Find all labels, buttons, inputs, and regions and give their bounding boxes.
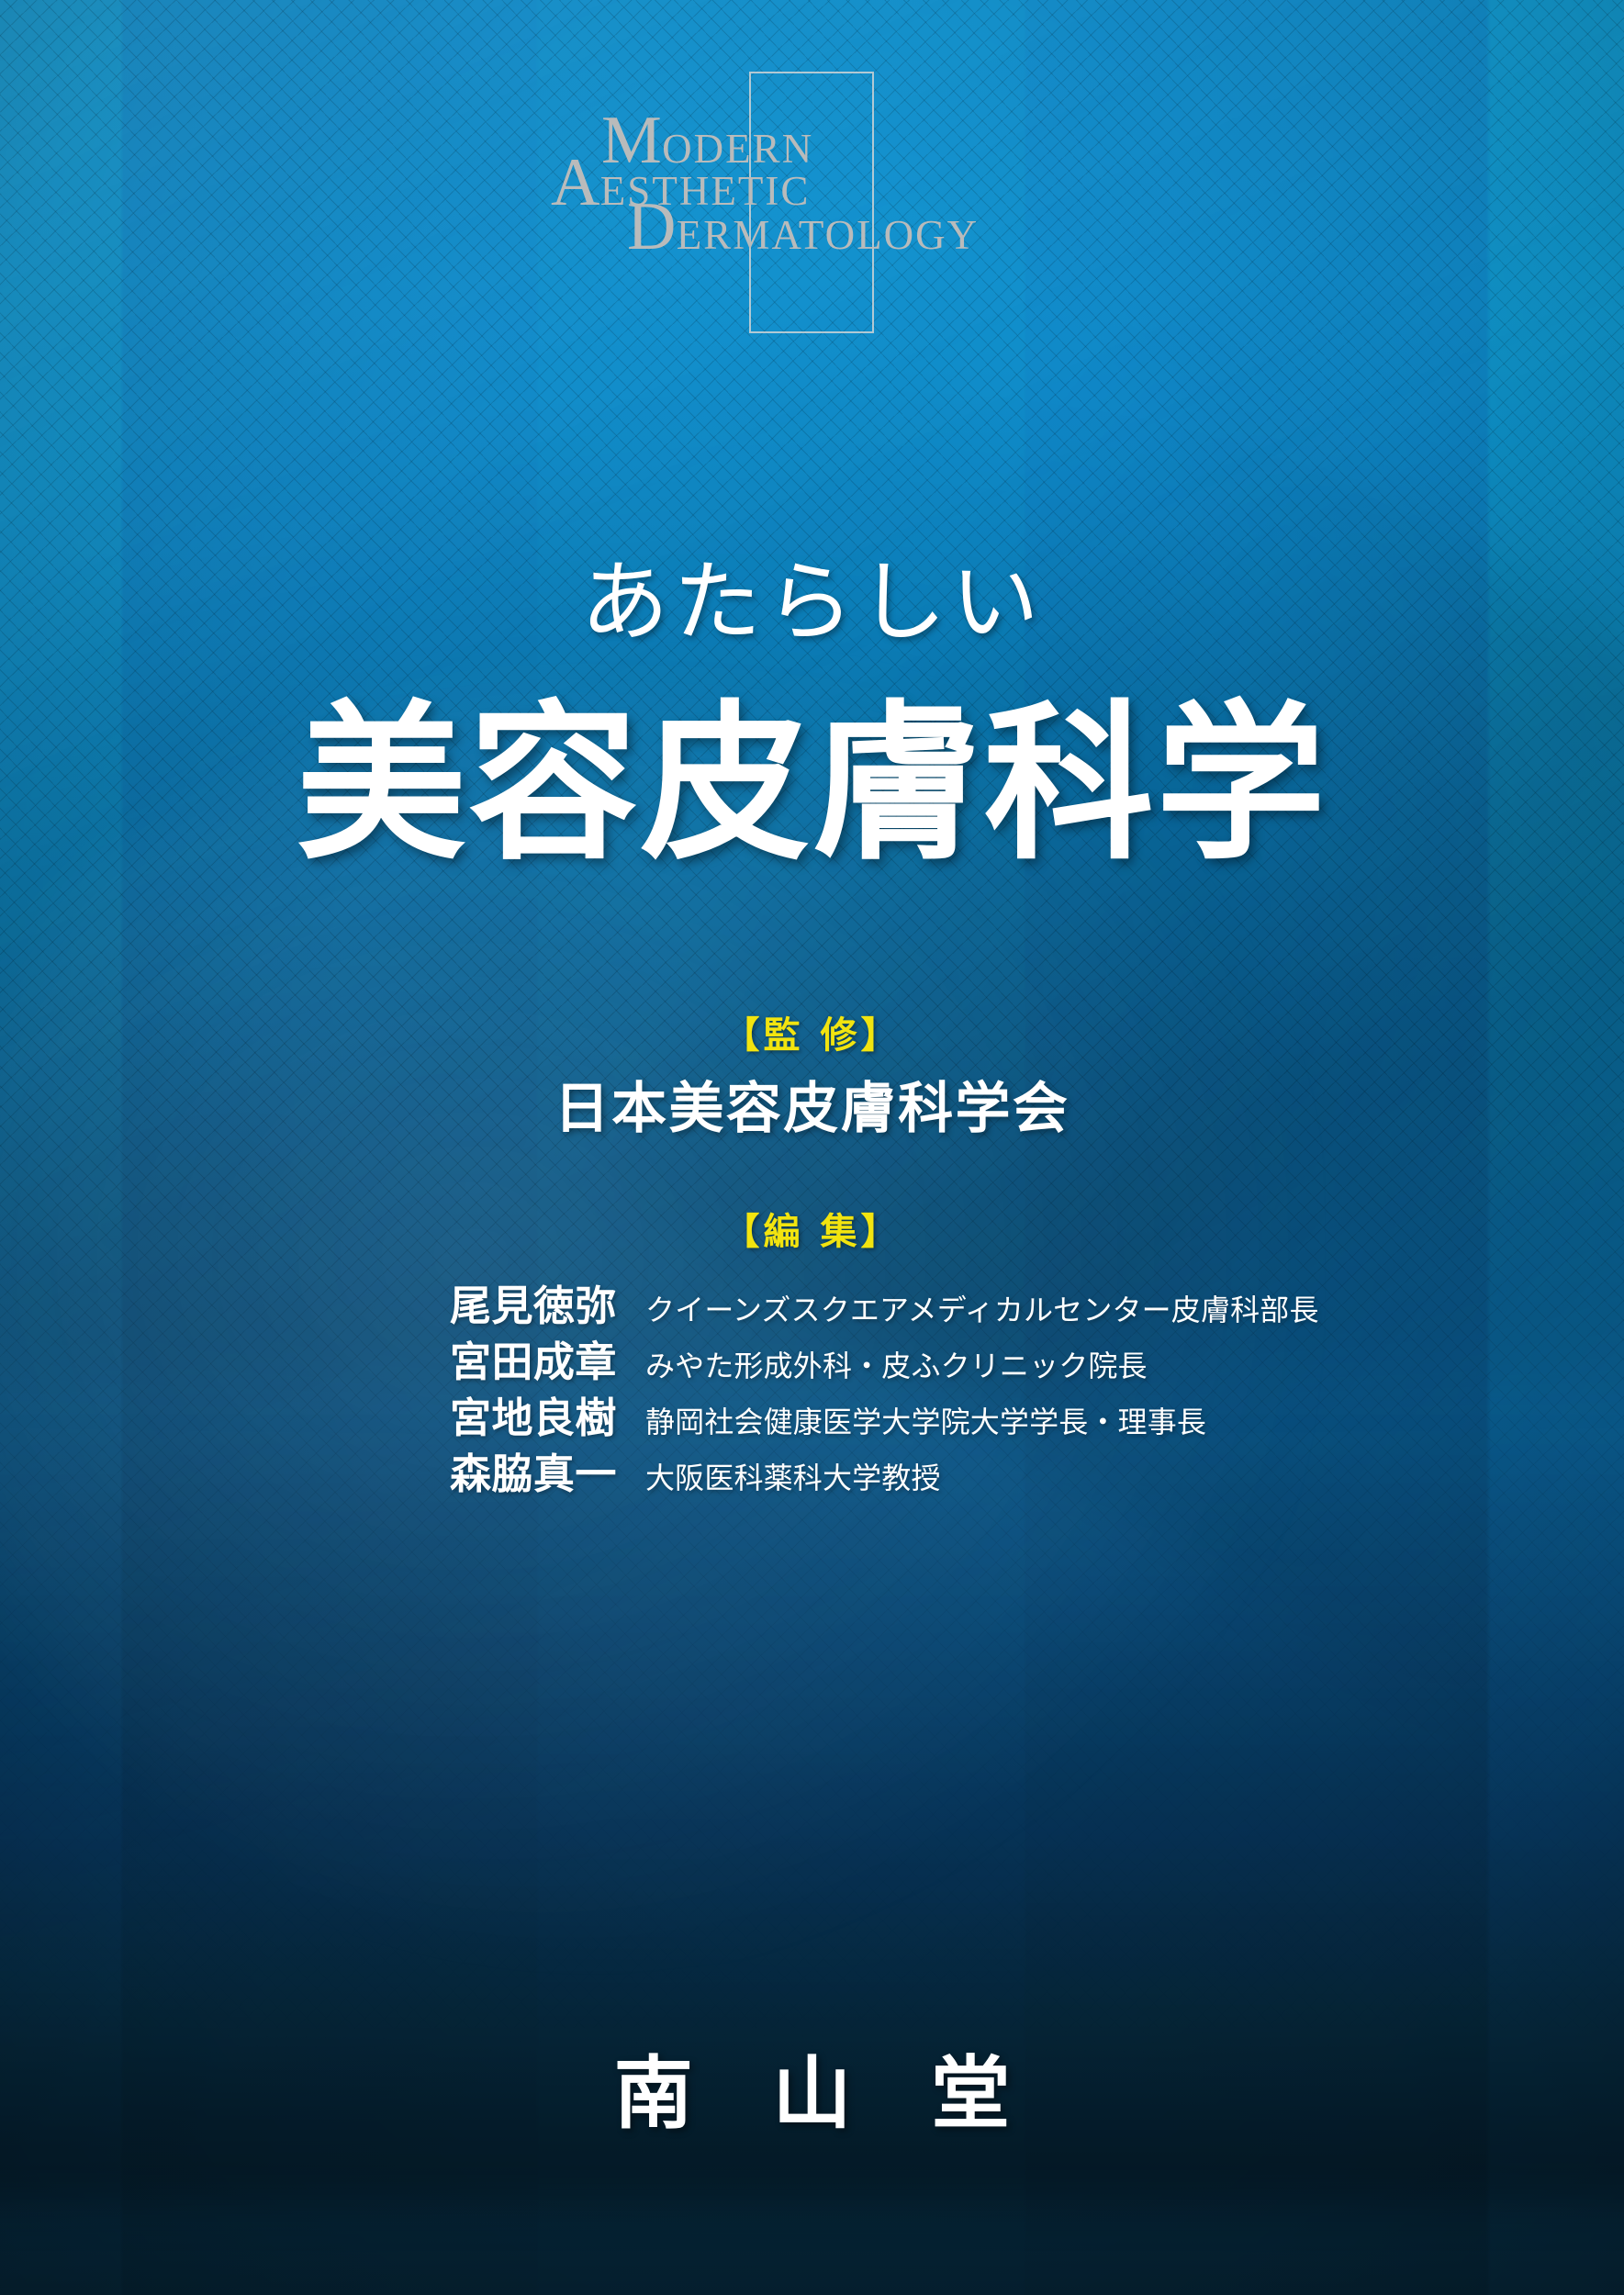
editor-name: 宮田成章 bbox=[450, 1341, 645, 1383]
editor-affiliation: みやた形成外科・皮ふクリニック院長 bbox=[645, 1351, 1148, 1381]
editor-name: 尾見徳弥 bbox=[450, 1285, 645, 1327]
editor-row: 森脇真一 大阪医科薬科大学教授 bbox=[450, 1453, 1276, 1509]
logo-line-dermatology: DERMATOLOGY bbox=[627, 200, 979, 256]
book-cover: MODERN AESTHETIC DERMATOLOGY あたらしい 美容皮膚科… bbox=[0, 0, 1624, 2295]
logo-word-dermatology: ERMATOLOGY bbox=[677, 212, 979, 258]
supervisor-name: 日本美容皮膚科学会 bbox=[0, 1081, 1624, 1136]
supervisor-label: 【監 修】 bbox=[0, 1017, 1624, 1054]
editor-row: 宮田成章 みやた形成外科・皮ふクリニック院長 bbox=[450, 1341, 1276, 1397]
editor-affiliation: 大阪医科薬科大学教授 bbox=[645, 1463, 941, 1493]
logo-dropcap-d: D bbox=[627, 189, 677, 264]
editor-affiliation: 静岡社会健康医学大学院大学学長・理事長 bbox=[645, 1407, 1206, 1437]
title-kicker: あたらしい bbox=[0, 558, 1624, 646]
publisher-name: 南 山 堂 bbox=[0, 2054, 1624, 2133]
editors-list: 尾見徳弥 クイーンズスクエアメディカルセンター皮膚科部長 宮田成章 みやた形成外… bbox=[450, 1285, 1276, 1509]
editor-affiliation: クイーンズスクエアメディカルセンター皮膚科部長 bbox=[645, 1295, 1319, 1325]
cover-content: MODERN AESTHETIC DERMATOLOGY あたらしい 美容皮膚科… bbox=[0, 0, 1624, 2295]
editor-row: 尾見徳弥 クイーンズスクエアメディカルセンター皮膚科部長 bbox=[450, 1285, 1276, 1341]
editor-row: 宮地良樹 静岡社会健康医学大学院大学学長・理事長 bbox=[450, 1397, 1276, 1453]
mad-logo: MODERN AESTHETIC DERMATOLOGY bbox=[0, 55, 1624, 349]
editors-label: 【編 集】 bbox=[0, 1214, 1624, 1250]
editor-name: 森脇真一 bbox=[450, 1453, 645, 1495]
main-title: 美容皮膚科学 bbox=[0, 694, 1624, 872]
editor-name: 宮地良樹 bbox=[450, 1397, 645, 1439]
logo-dropcap-a: A bbox=[551, 145, 600, 220]
